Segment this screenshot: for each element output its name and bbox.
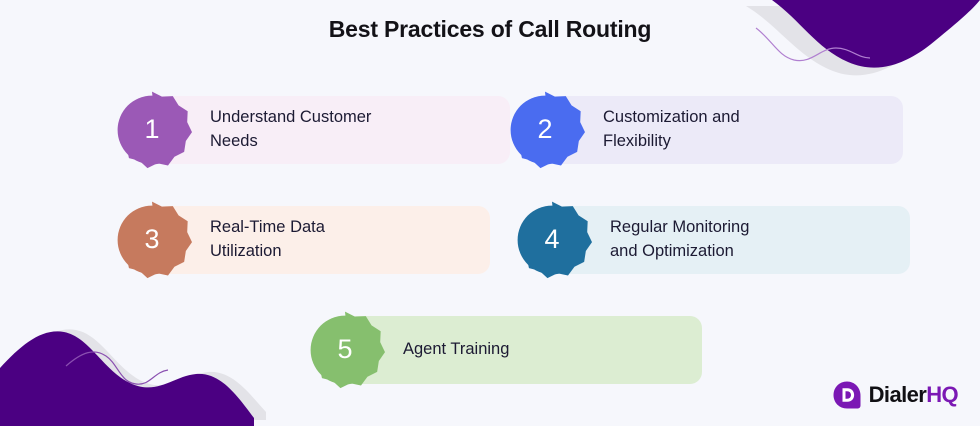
list-item-1[interactable]: 1 Understand Customer Needs — [112, 90, 371, 170]
list-item-3-number: 3 — [144, 226, 159, 255]
dialerhq-logo[interactable]: DialerHQ — [832, 380, 958, 410]
list-item-3-label: Real-Time Data Utilization — [210, 216, 325, 264]
list-item-2-badge: 2 — [505, 90, 585, 170]
list-item-2[interactable]: 2 Customization and Flexibility — [505, 90, 740, 170]
dialerhq-logo-text: DialerHQ — [869, 384, 958, 406]
list-row-2: 3 Real-Time Data Utilization 4 Regular M… — [0, 200, 980, 310]
list-row-1: 1 Understand Customer Needs 2 Customizat… — [0, 90, 980, 200]
page-title: Best Practices of Call Routing — [0, 16, 980, 43]
list-item-5[interactable]: 5 Agent Training — [305, 310, 509, 390]
list-item-4-badge: 4 — [512, 200, 592, 280]
logo-text-dialer: Dialer — [869, 382, 927, 407]
best-practices-list: 1 Understand Customer Needs 2 Customizat… — [0, 90, 980, 420]
list-item-4[interactable]: 4 Regular Monitoring and Optimization — [512, 200, 749, 280]
infographic-canvas: Best Practices of Call Routing 1 Underst… — [0, 0, 980, 426]
list-item-1-badge: 1 — [112, 90, 192, 170]
list-item-2-label: Customization and Flexibility — [603, 106, 740, 154]
list-item-1-label: Understand Customer Needs — [210, 106, 371, 154]
list-item-5-label: Agent Training — [403, 338, 509, 362]
list-item-5-badge: 5 — [305, 310, 385, 390]
list-item-3[interactable]: 3 Real-Time Data Utilization — [112, 200, 325, 280]
list-item-5-card — [345, 316, 702, 384]
list-item-5-number: 5 — [337, 336, 352, 365]
dialerhq-logo-icon — [832, 380, 862, 410]
list-item-4-label: Regular Monitoring and Optimization — [610, 216, 749, 264]
list-item-3-badge: 3 — [112, 200, 192, 280]
logo-text-hq: HQ — [926, 382, 958, 407]
list-item-2-number: 2 — [537, 116, 552, 145]
list-item-4-number: 4 — [544, 226, 559, 255]
list-item-1-number: 1 — [144, 116, 159, 145]
